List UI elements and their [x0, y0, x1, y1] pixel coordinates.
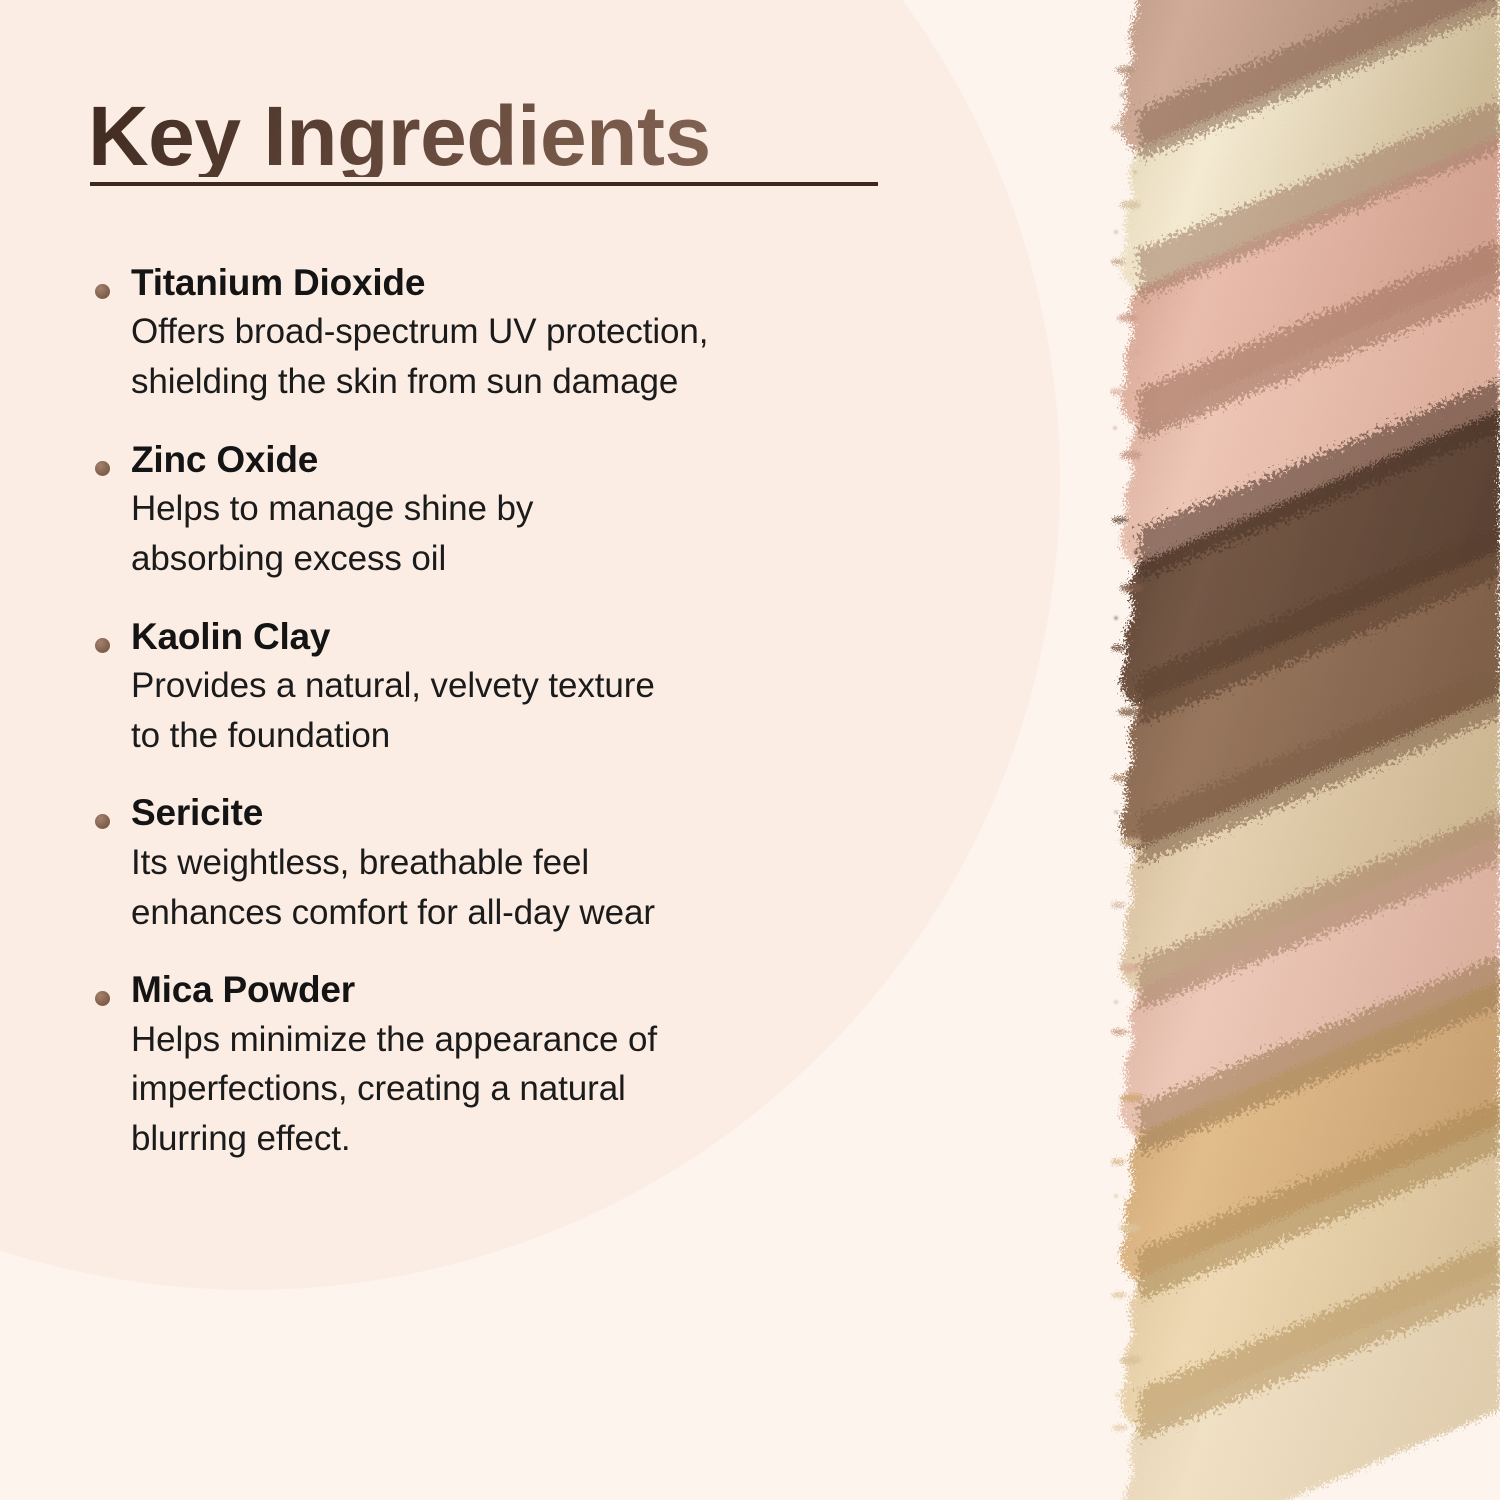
ingredient-name: Kaolin Clay: [131, 616, 1000, 657]
page-title: Key Ingredients: [88, 96, 888, 177]
ingredient-description: Helps minimize the appearance of imperfe…: [131, 1015, 1000, 1164]
content-column: Key Ingredients Titanium Dioxide Offers …: [0, 0, 1060, 1500]
powder-swatch-photo: [1110, 0, 1500, 1500]
list-item: Kaolin Clay Provides a natural, velvety …: [0, 616, 1000, 761]
ingredient-description: Helps to manage shine by absorbing exces…: [131, 484, 1000, 583]
title-underline: [90, 182, 878, 186]
list-item: Titanium Dioxide Offers broad-spectrum U…: [0, 262, 1000, 407]
bullet-icon: [95, 991, 110, 1006]
list-item: Mica Powder Helps minimize the appearanc…: [0, 969, 1000, 1164]
ingredient-description: Provides a natural, velvety texture to t…: [131, 661, 1000, 760]
powder-swatch-illustration: [1110, 0, 1500, 1500]
ingredient-name: Mica Powder: [131, 969, 1000, 1010]
bullet-icon: [95, 461, 110, 476]
key-ingredients-graphic: Key Ingredients Titanium Dioxide Offers …: [0, 0, 1500, 1500]
ingredient-description: Its weightless, breathable feel enhances…: [131, 838, 1000, 937]
ingredient-description: Offers broad-spectrum UV protection, shi…: [131, 307, 1000, 406]
page-title-wrap: Key Ingredients: [88, 96, 888, 177]
bullet-icon: [95, 814, 110, 829]
ingredient-name: Titanium Dioxide: [131, 262, 1000, 303]
bullet-icon: [95, 284, 110, 299]
list-item: Zinc Oxide Helps to manage shine by abso…: [0, 439, 1000, 584]
ingredient-name: Zinc Oxide: [131, 439, 1000, 480]
ingredient-name: Sericite: [131, 792, 1000, 833]
ingredient-list: Titanium Dioxide Offers broad-spectrum U…: [0, 262, 1000, 1196]
list-item: Sericite Its weightless, breathable feel…: [0, 792, 1000, 937]
bullet-icon: [95, 638, 110, 653]
